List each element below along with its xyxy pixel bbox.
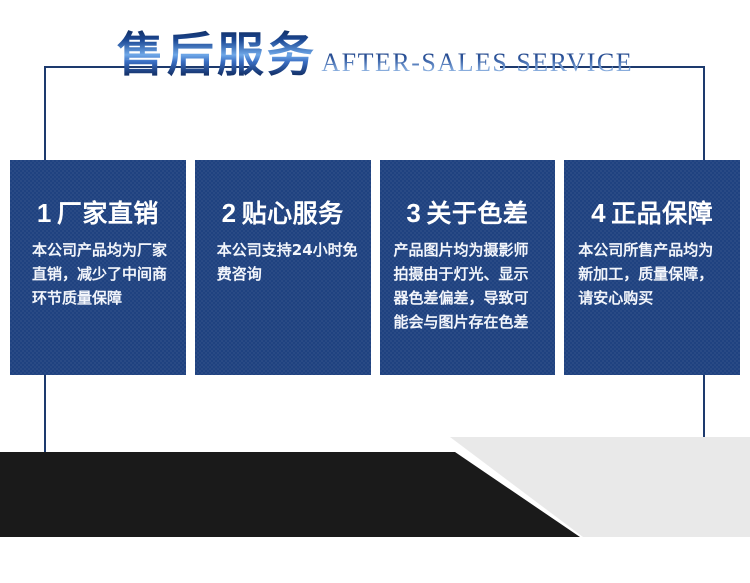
service-card-3: 3关于色差 产品图片均为摄影师拍摄由于灯光、显示器色差偏差，导致可能会与图片存在… [380,160,556,375]
service-card-2: 2贴心服务 本公司支持24小时免费咨询 [195,160,371,375]
page-subtitle-en: AFTER-SALES SERVICE [321,47,633,79]
frame-left-bottom-line [44,375,46,453]
service-card-1: 1厂家直销 本公司产品均为厂家直销，减少了中间商环节质量保障 [10,160,186,375]
banner-header: 售后服务 AFTER-SALES SERVICE [0,28,750,84]
service-card-3-number: 3 [406,198,421,228]
service-card-1-number: 1 [37,198,52,228]
service-card-1-body: 本公司产品均为厂家直销，减少了中间商环节质量保障 [32,238,174,310]
page-title-cn: 售后服务 [117,28,317,84]
service-card-3-title: 关于色差 [426,199,528,228]
service-card-1-title: 厂家直销 [57,199,159,228]
service-card-1-heading: 1厂家直销 [10,194,186,230]
service-card-3-heading: 3关于色差 [380,194,556,230]
service-card-4-number: 4 [591,198,606,228]
service-card-2-number: 2 [222,198,237,228]
service-card-list: 1厂家直销 本公司产品均为厂家直销，减少了中间商环节质量保障 2贴心服务 本公司… [10,160,740,375]
service-card-2-title: 贴心服务 [242,199,344,228]
service-card-2-body: 本公司支持24小时免费咨询 [217,238,359,286]
service-card-4-heading: 4正品保障 [564,194,740,230]
service-card-4: 4正品保障 本公司所售产品均为新加工，质量保障，请安心购买 [564,160,740,375]
service-card-3-body: 产品图片均为摄影师拍摄由于灯光、显示器色差偏差，导致可能会与图片存在色差 [394,238,544,334]
service-card-4-body: 本公司所售产品均为新加工，质量保障，请安心购买 [578,238,728,310]
frame-right-bottom-line [703,375,705,438]
after-sales-service-banner: 售后服务 AFTER-SALES SERVICE 1厂家直销 本公司产品均为厂家… [0,0,750,583]
service-card-4-title: 正品保障 [611,199,713,228]
service-card-2-heading: 2贴心服务 [195,194,371,230]
